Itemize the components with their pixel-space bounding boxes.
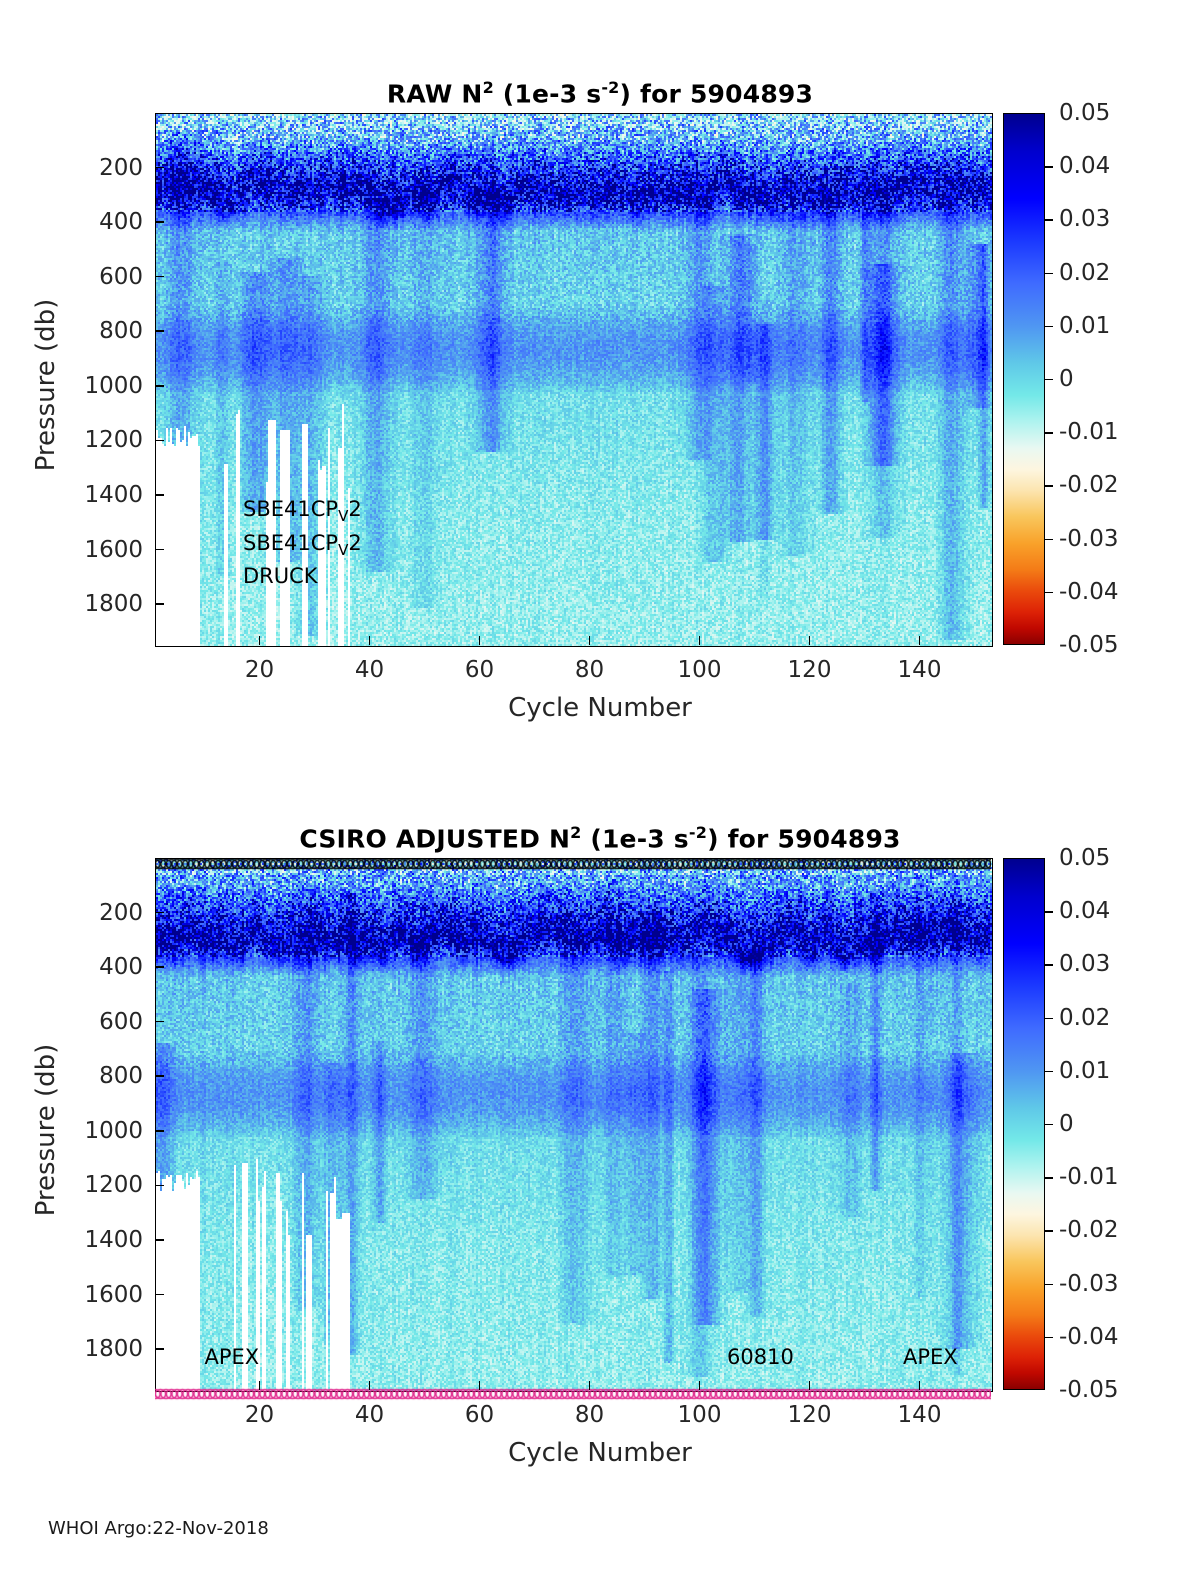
plot-annotation: APEX	[205, 1345, 260, 1369]
x-tick-mark	[589, 636, 591, 645]
colorbar-tick-mark	[1045, 964, 1053, 965]
y-tick-label: 800	[8, 318, 143, 344]
colorbar-tick-label: 0.01	[1059, 313, 1110, 339]
y-tick-mark	[155, 221, 164, 223]
y-tick-label: 400	[8, 209, 143, 235]
x-tick-mark	[699, 1381, 701, 1390]
colorbar-tick-mark	[1045, 539, 1053, 540]
x-tick-label: 140	[898, 1402, 942, 1428]
colorbar-tick-mark	[1045, 273, 1053, 274]
title-text-main: CSIRO ADJUSTED N	[299, 824, 570, 853]
colorbar-tick-mark	[1045, 1071, 1053, 1072]
y-tick-label: 400	[8, 954, 143, 980]
y-tick-label: 1000	[8, 1118, 143, 1144]
title-superscript-exponent: -2	[689, 823, 707, 842]
x-tick-mark	[369, 1381, 371, 1390]
colorbar-adjusted: 0.050.040.030.020.010-0.01-0.02-0.03-0.0…	[1003, 858, 1183, 1390]
x-tick-label: 100	[678, 657, 722, 683]
x-tick-label: 40	[355, 657, 384, 683]
x-tick-mark	[259, 1381, 261, 1390]
title-text-units: (1e-3 s	[494, 79, 601, 108]
colorbar-gradient-adjusted	[1003, 858, 1045, 1390]
colorbar-tick-mark	[1045, 911, 1053, 912]
colorbar-tick-mark	[1045, 485, 1053, 486]
panel-raw: RAW N2 (1e-3 s-2) for 5904893 Pressure (…	[0, 0, 1200, 760]
x-tick-mark	[919, 636, 921, 645]
y-tick-label: 1200	[8, 427, 143, 453]
y-tick-mark	[155, 385, 164, 387]
colorbar-tick-label: -0.01	[1059, 419, 1119, 445]
x-tick-label: 20	[245, 657, 274, 683]
x-tick-mark	[479, 1381, 481, 1390]
x-tick-label: 80	[575, 1402, 604, 1428]
colorbar-tick-label: 0.05	[1059, 845, 1110, 871]
colorbar-tick-label: 0.04	[1059, 898, 1110, 924]
x-tick-mark	[809, 1381, 811, 1390]
x-tick-mark	[919, 1381, 921, 1390]
colorbar-tick-mark	[1045, 1284, 1053, 1285]
y-tick-label: 1000	[8, 373, 143, 399]
x-tick-label: 60	[465, 1402, 494, 1428]
plot-area-adjusted[interactable]	[155, 858, 993, 1392]
colorbar-tick-mark	[1045, 1018, 1053, 1019]
x-tick-mark	[589, 1381, 591, 1390]
plot-annotation: 60810	[727, 1345, 794, 1369]
x-tick-label: 60	[465, 657, 494, 683]
x-tick-label: 120	[788, 1402, 832, 1428]
footer-credit: WHOI Argo:22-Nov-2018	[48, 1518, 269, 1539]
title-text-floatid: ) for 5904893	[620, 79, 814, 108]
y-tick-mark	[155, 1021, 164, 1023]
y-tick-label: 1600	[8, 1282, 143, 1308]
y-tick-mark	[155, 1185, 164, 1187]
y-tick-mark	[155, 1348, 164, 1350]
colorbar-gradient-raw	[1003, 113, 1045, 645]
colorbar-tick-mark	[1045, 432, 1053, 433]
colorbar-tick-mark	[1045, 326, 1053, 327]
x-tick-mark	[699, 636, 701, 645]
colorbar-tick-label: 0.03	[1059, 206, 1110, 232]
colorbar-tick-label: 0.04	[1059, 153, 1110, 179]
panel-adjusted: CSIRO ADJUSTED N2 (1e-3 s-2) for 5904893…	[0, 745, 1200, 1505]
colorbar-tick-label: 0.01	[1059, 1058, 1110, 1084]
plot-annotation: SBE41CPV2	[243, 497, 362, 525]
colorbar-tick-label: -0.01	[1059, 1164, 1119, 1190]
x-axis-label-raw: Cycle Number	[0, 693, 1200, 723]
x-tick-label: 140	[898, 657, 942, 683]
y-tick-mark	[155, 603, 164, 605]
title-superscript-squared: 2	[483, 78, 494, 97]
plot-annotation: DRUCK	[243, 564, 318, 588]
colorbar-tick-label: 0.02	[1059, 1005, 1110, 1031]
y-tick-mark	[155, 966, 164, 968]
x-tick-mark	[479, 636, 481, 645]
y-tick-mark	[155, 276, 164, 278]
colorbar-tick-mark	[1045, 166, 1053, 167]
x-tick-label: 40	[355, 1402, 384, 1428]
colorbar-raw: 0.050.040.030.020.010-0.01-0.02-0.03-0.0…	[1003, 113, 1183, 645]
y-tick-label: 1800	[8, 591, 143, 617]
colorbar-tick-label: 0.05	[1059, 100, 1110, 126]
title-superscript-exponent: -2	[601, 78, 619, 97]
plot-annotation: SBE41CPV2	[243, 531, 362, 559]
colorbar-tick-label: -0.03	[1059, 1271, 1119, 1297]
panel-raw-title: RAW N2 (1e-3 s-2) for 5904893	[0, 78, 1200, 108]
colorbar-tick-label: 0.03	[1059, 951, 1110, 977]
x-tick-label: 20	[245, 1402, 274, 1428]
title-text-floatid: ) for 5904893	[707, 824, 901, 853]
plot-annotation: APEX	[903, 1345, 958, 1369]
colorbar-tick-mark	[1045, 219, 1053, 220]
y-tick-label: 200	[8, 155, 143, 181]
colorbar-tick-mark	[1045, 1124, 1053, 1125]
x-tick-mark	[809, 636, 811, 645]
y-tick-mark	[155, 440, 164, 442]
colorbar-tick-label: 0	[1059, 366, 1074, 392]
x-tick-mark	[369, 636, 371, 645]
y-tick-mark	[155, 912, 164, 914]
y-tick-mark	[155, 167, 164, 169]
colorbar-tick-label: -0.04	[1059, 1324, 1119, 1350]
colorbar-tick-mark	[1045, 592, 1053, 593]
y-tick-label: 1400	[8, 1227, 143, 1253]
colorbar-tick-mark	[1045, 379, 1053, 380]
colorbar-tick-label: -0.05	[1059, 632, 1119, 658]
y-tick-mark	[155, 330, 164, 332]
colorbar-tick-label: -0.03	[1059, 526, 1119, 552]
heatmap-adjusted	[156, 859, 992, 1391]
y-tick-label: 600	[8, 264, 143, 290]
y-tick-mark	[155, 1130, 164, 1132]
y-tick-label: 200	[8, 900, 143, 926]
y-tick-mark	[155, 1239, 164, 1241]
title-superscript-squared: 2	[570, 823, 581, 842]
panel-adjusted-title: CSIRO ADJUSTED N2 (1e-3 s-2) for 5904893	[0, 823, 1200, 853]
y-tick-label: 1400	[8, 482, 143, 508]
x-tick-label: 80	[575, 657, 604, 683]
colorbar-tick-label: -0.02	[1059, 1217, 1119, 1243]
y-tick-label: 800	[8, 1063, 143, 1089]
y-tick-mark	[155, 1075, 164, 1077]
y-tick-label: 600	[8, 1009, 143, 1035]
colorbar-tick-label: -0.04	[1059, 579, 1119, 605]
x-tick-mark	[259, 636, 261, 645]
colorbar-tick-mark	[1045, 1177, 1053, 1178]
colorbar-tick-mark	[1045, 1230, 1053, 1231]
colorbar-tick-label: -0.02	[1059, 472, 1119, 498]
colorbar-tick-mark	[1045, 1337, 1053, 1338]
x-tick-label: 100	[678, 1402, 722, 1428]
y-tick-label: 1200	[8, 1172, 143, 1198]
y-tick-label: 1800	[8, 1336, 143, 1362]
y-tick-mark	[155, 549, 164, 551]
y-tick-mark	[155, 494, 164, 496]
title-text-units: (1e-3 s	[581, 824, 688, 853]
x-tick-label: 120	[788, 657, 832, 683]
y-tick-label: 1600	[8, 537, 143, 563]
colorbar-tick-label: 0	[1059, 1111, 1074, 1137]
title-text-main: RAW N	[387, 79, 483, 108]
x-axis-label-adjusted: Cycle Number	[0, 1438, 1200, 1468]
y-tick-mark	[155, 1294, 164, 1296]
colorbar-tick-label: 0.02	[1059, 260, 1110, 286]
colorbar-tick-label: -0.05	[1059, 1377, 1119, 1403]
